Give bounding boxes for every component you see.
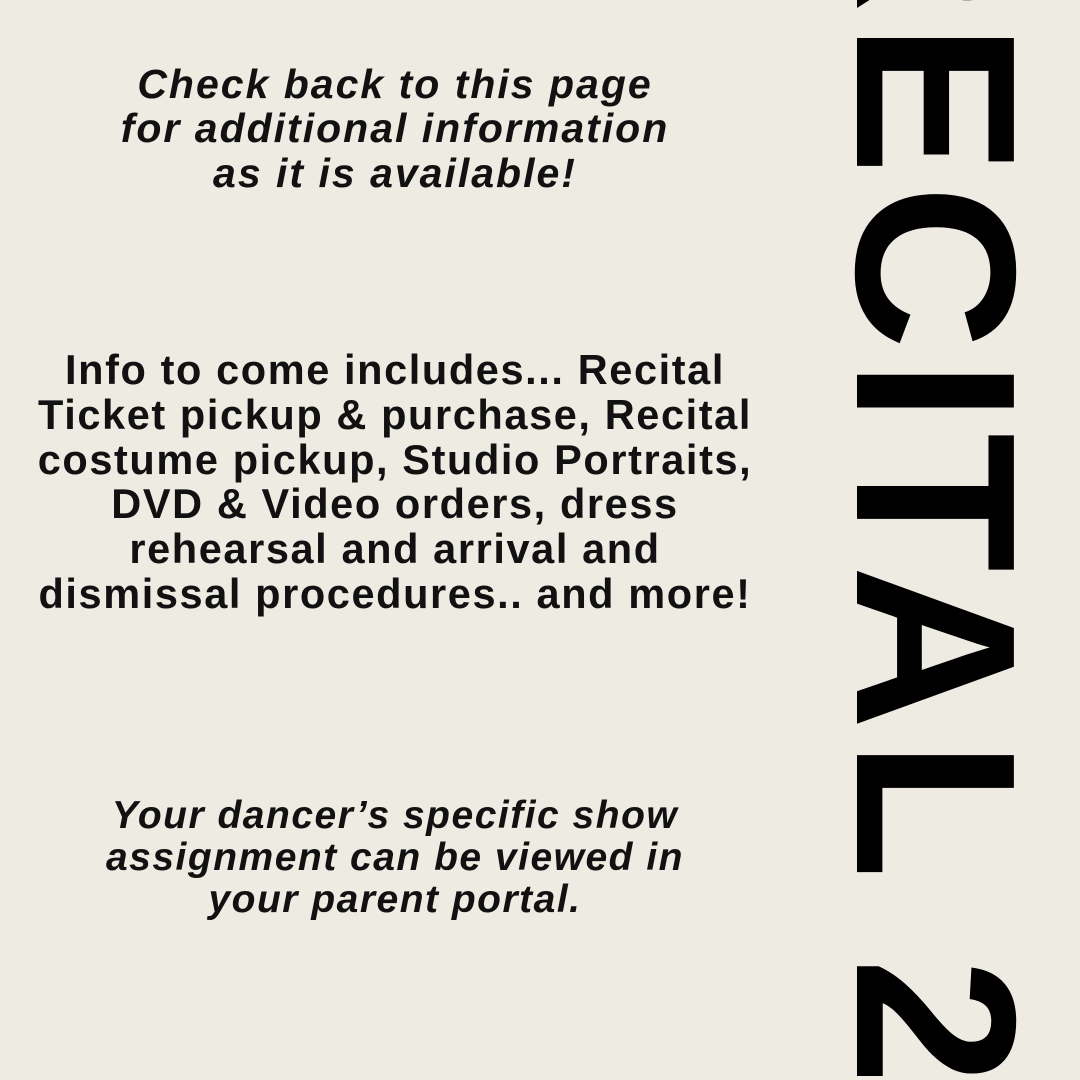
poster-text-column: Check back to this page for additional i…: [0, 0, 790, 1080]
vertical-headline-area: RECITAL 26: [790, 0, 1080, 1080]
body-paragraph-text: Info to come includes... Recital Ticket …: [32, 348, 758, 617]
vertical-headline: RECITAL 26: [821, 0, 1049, 1080]
intro-paragraph: Check back to this page for additional i…: [0, 62, 790, 195]
poster-canvas: Check back to this page for additional i…: [0, 0, 1080, 1080]
intro-paragraph-text: Check back to this page for additional i…: [120, 62, 670, 195]
closing-paragraph-text: Your dancer’s specific show assignment c…: [82, 795, 708, 921]
body-paragraph: Info to come includes... Recital Ticket …: [0, 348, 790, 617]
closing-paragraph: Your dancer’s specific show assignment c…: [0, 795, 790, 921]
